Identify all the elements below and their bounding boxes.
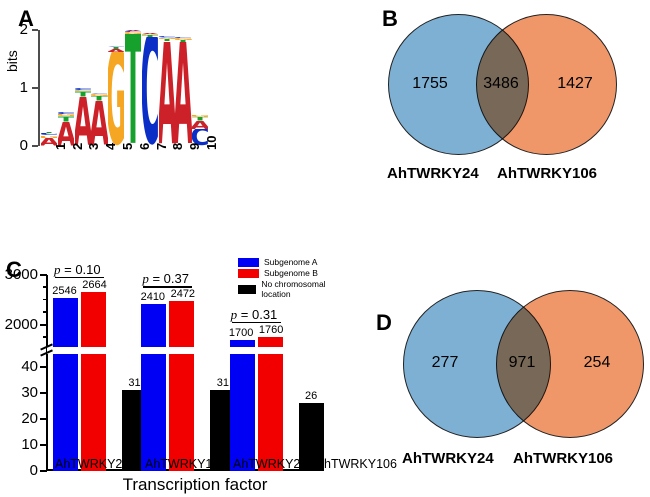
bar-subgenome-a[interactable] (53, 298, 78, 471)
chart-plot-area: 2546266431p = 0.102410247231p = 0.371700… (47, 275, 312, 471)
legend-label: Subgenome B (264, 268, 318, 278)
logo-y-tick (32, 29, 38, 31)
venn-d-right-label: AhTWRKY106 (513, 450, 613, 467)
logo-letter-A: A (192, 121, 208, 129)
axis-break-mask (47, 347, 313, 354)
logo-position-label: 2 (70, 143, 85, 150)
logo-position-label: 9 (187, 143, 202, 150)
venn-d-left-label: AhTWRKY24 (402, 450, 494, 467)
chart-x-category-label: AhTWRKY24&AhTWRKY106 (233, 457, 397, 471)
panel-b-venn: B 1755 3486 1427 AhTWRKY24 AhTWRKY106 (370, 0, 650, 200)
p-value-bracket (143, 286, 192, 288)
logo-plot-area: TCGACGTACGTACGTACTAGACGTAGTCCGTACGTAGTAC (41, 30, 209, 146)
logo-letter-C: C (142, 37, 158, 146)
venn-b-right-count: 1427 (540, 75, 610, 93)
chart-x-category-label: AhTWRKY24 (55, 457, 129, 471)
logo-letter-A: A (159, 42, 175, 146)
chart-y-tick-label: 0 (0, 462, 38, 479)
logo-letter-G: G (108, 52, 124, 146)
bar-value-subgenome-b: 2472 (167, 288, 198, 300)
p-value-annotation: p = 0.37 (142, 271, 189, 287)
logo-position-label: 7 (154, 143, 169, 150)
logo-position-label: 8 (170, 143, 185, 150)
chart-legend: Subgenome ASubgenome BNo chromosomal loc… (238, 257, 345, 300)
legend-label: Subgenome A (264, 257, 317, 267)
p-value-bracket (232, 322, 281, 324)
logo-stack: CGTA (91, 93, 107, 146)
chart-y-tick (40, 470, 47, 472)
legend-label: No chromosomal location (261, 279, 345, 299)
logo-y-axis-title: bits (4, 50, 20, 72)
logo-letter-T: T (125, 34, 141, 146)
chart-x-category-label: AhTWRKY106 (145, 457, 226, 471)
legend-item[interactable]: No chromosomal location (238, 279, 345, 299)
panel-a-sequence-logo: A bits 012 TCGACGTACGTACGTACTAGACGTAGTCC… (0, 0, 330, 190)
venn-b-intersection-count: 3486 (466, 75, 536, 93)
logo-y-axis-line (38, 30, 40, 146)
panel-d-label: D (376, 312, 392, 334)
logo-position-label: 6 (137, 143, 152, 150)
logo-stack: CGTA (58, 112, 74, 146)
bar-value-subgenome-a: 1700 (226, 327, 257, 339)
logo-position-label: 1 (53, 143, 68, 150)
bar-subgenome-b[interactable] (258, 337, 283, 471)
logo-letter-A: A (91, 101, 107, 146)
bar-subgenome-b[interactable] (81, 292, 106, 471)
legend-swatch (238, 258, 259, 267)
chart-y-tick-label: 30 (0, 384, 38, 401)
logo-position-label: 5 (120, 143, 135, 150)
panel-b-label: B (382, 8, 398, 30)
logo-y-tick (32, 145, 38, 147)
chart-y-tick-label: 2000 (0, 316, 38, 333)
bar-value-subgenome-b: 2664 (79, 279, 110, 291)
legend-item[interactable]: Subgenome B (238, 268, 345, 278)
p-value-bracket (55, 277, 104, 279)
logo-stack: CGTA (75, 88, 91, 146)
p-value-annotation: p = 0.31 (231, 307, 278, 323)
chart-y-tick (40, 418, 47, 420)
logo-position-label: 3 (86, 143, 101, 150)
logo-letter-A: A (175, 42, 191, 146)
bar-subgenome-b[interactable] (169, 301, 194, 471)
bar-value-subgenome-a: 2546 (49, 285, 80, 297)
chart-x-axis-title: Transcription factor (60, 475, 330, 495)
logo-stack: AGTC (142, 33, 158, 146)
logo-position-label: 10 (204, 136, 219, 150)
panel-c-bar-chart: C Gene number 01020304020003000 25462664… (0, 255, 345, 497)
bar-subgenome-a[interactable] (230, 340, 255, 471)
logo-position-label: 4 (103, 143, 118, 150)
chart-y-tick-label: 20 (0, 410, 38, 427)
venn-d-intersection-count: 971 (487, 354, 557, 372)
chart-y-tick (40, 366, 47, 368)
venn-b-right-label: AhTWRKY106 (497, 165, 597, 182)
venn-d-left-count: 277 (410, 354, 480, 372)
bar-value-subgenome-a: 2410 (137, 291, 168, 303)
chart-y-tick (40, 274, 47, 276)
legend-swatch (238, 269, 259, 278)
chart-y-tick-label: 10 (0, 436, 38, 453)
logo-stack: CTAG (108, 46, 124, 146)
legend-item[interactable]: Subgenome A (238, 257, 345, 267)
logo-y-tick-label: 1 (10, 79, 28, 96)
logo-letter-A: A (75, 97, 91, 146)
p-value-annotation: p = 0.10 (54, 262, 101, 278)
logo-stack: CGTA (175, 37, 191, 146)
logo-stack: CGTA (159, 36, 175, 146)
legend-swatch (238, 285, 256, 294)
chart-y-tick (40, 444, 47, 446)
logo-y-tick-label: 0 (10, 137, 28, 154)
venn-d-right-count: 254 (562, 354, 632, 372)
chart-y-tick (40, 324, 47, 326)
chart-y-tick-label: 3000 (0, 266, 38, 283)
venn-b-left-label: AhTWRKY24 (387, 165, 479, 182)
logo-stack: ACGT (125, 30, 141, 146)
chart-y-tick-label: 40 (0, 358, 38, 375)
logo-y-tick (32, 87, 38, 89)
bar-subgenome-a[interactable] (141, 304, 166, 471)
venn-b-left-count: 1755 (395, 75, 465, 93)
logo-y-tick-label: 2 (10, 21, 28, 38)
chart-y-tick (40, 392, 47, 394)
bar-value-no-chromosomal-location: 26 (296, 390, 327, 402)
bar-value-subgenome-b: 1760 (256, 324, 287, 336)
